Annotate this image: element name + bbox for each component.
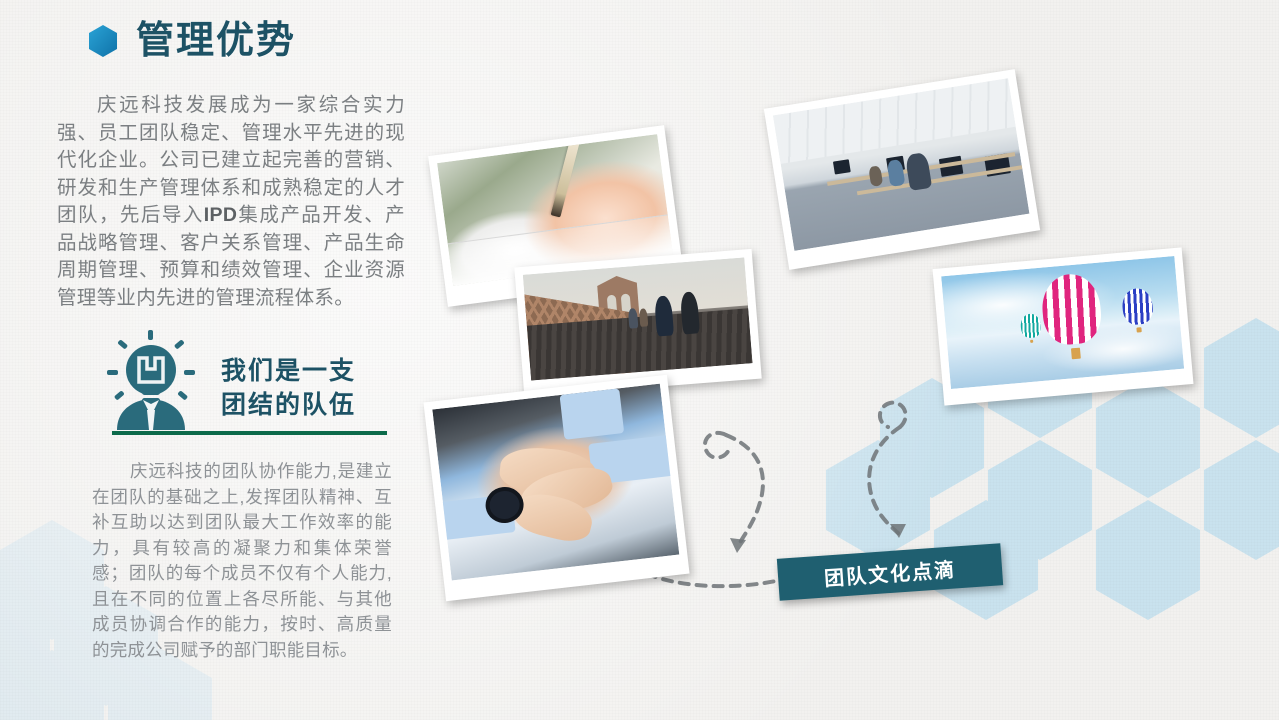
photo-hands[interactable] [423, 375, 689, 601]
photo-balloons-image [941, 256, 1184, 389]
feature-heading: 我们是一支 团结的队伍 [221, 354, 356, 422]
page-title: 管理优势 [136, 22, 296, 60]
photo-bridge-image [523, 257, 753, 380]
intro-paragraph: 庆远科技发展成为一家综合实力强、员工团队稳定、管理水平先进的现代化企业。公司已建… [57, 92, 405, 312]
photo-balloons[interactable] [933, 247, 1194, 405]
teamwork-paragraph: 庆远科技的团队协作能力,是建立在团队的基础之上,发挥团队精神、互补互助以达到团队… [92, 459, 392, 663]
photo-office-image [773, 78, 1030, 251]
team-culture-banner-label: 团队文化点滴 [823, 553, 957, 591]
intro-paragraph-keyword: IPD [204, 204, 237, 226]
hexagon-icon [88, 24, 118, 58]
lightbulb-head-person-icon [105, 330, 197, 430]
slide-canvas: 管理优势 庆远科技发展成为一家综合实力强、员工团队稳定、管理水平先进的现代化企业… [0, 0, 1279, 720]
photo-hands-image [432, 384, 679, 581]
feature-underline [112, 431, 387, 435]
feature-heading-line-1: 我们是一支 [221, 354, 356, 388]
feature-block: 我们是一支 团结的队伍 [105, 330, 356, 430]
feature-heading-line-2: 团结的队伍 [221, 388, 356, 422]
page-title-row: 管理优势 [88, 22, 296, 60]
photo-bridge[interactable] [514, 249, 761, 397]
